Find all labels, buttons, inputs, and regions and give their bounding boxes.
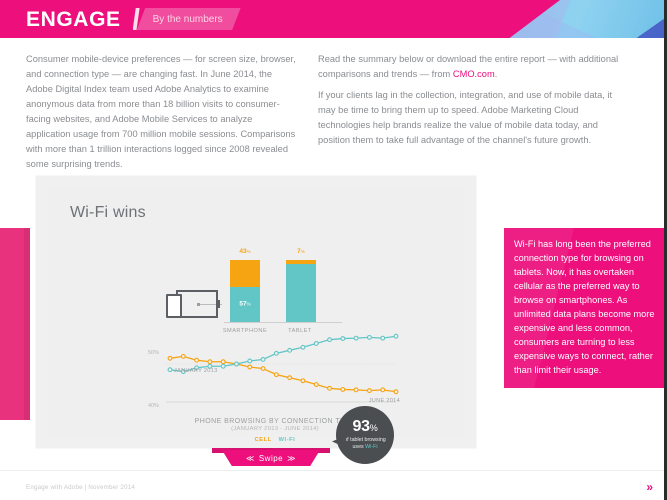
bar-segment-smartphone-cell [230, 260, 260, 287]
bar-group-tablet: 7% [286, 260, 316, 322]
left-pink-accent-bar [0, 228, 30, 420]
callout-percent-sign: % [370, 423, 378, 433]
phone-icon [166, 294, 182, 318]
intro-section: Consumer mobile-device preferences — for… [0, 52, 667, 178]
card-title: Wi-Fi wins [70, 204, 146, 222]
bar-label-smartphone-wifi-unit: % [247, 302, 251, 307]
devices-icon [164, 287, 220, 321]
intro-paragraph-left: Consumer mobile-device preferences — for… [26, 52, 296, 172]
cmo-link[interactable]: CMO.com [453, 69, 495, 79]
line-chart-annotation-start: JANUARY 2013 [174, 368, 218, 374]
header-content: ENGAGE By the numbers [0, 0, 223, 38]
intro-paragraph-right-2: If your clients lag in the collection, i… [318, 88, 622, 148]
bar-label-tablet-cell-unit: % [301, 249, 305, 254]
sidebar-callout-panel: Wi-Fi has long been the preferred connec… [504, 228, 667, 388]
slide-page: ENGAGE By the numbers Consumer mobile-de… [0, 0, 667, 500]
bar-stack-smartphone: 43% 57% [230, 260, 260, 322]
legend-item-cell: CELL [255, 437, 272, 443]
bar-stack-tablet: 7% [286, 260, 316, 322]
callout-subtext: of tablet browsing uses Wi-Fi [344, 437, 386, 451]
line-chart-ytick-40: 40% [148, 403, 159, 409]
swipe-chevron-left-icon[interactable]: ≪ [246, 454, 255, 463]
header-tag: By the numbers [135, 8, 223, 30]
callout-line-2: uses Wi-Fi [344, 444, 386, 451]
footer-label: Engage with Adobe | November 2014 [26, 484, 135, 491]
callout-line-2-highlight: Wi-Fi [365, 444, 377, 450]
bar-label-smartphone-cell-unit: % [247, 249, 251, 254]
brand-title: ENGAGE [26, 9, 121, 30]
swipe-chevron-right-icon[interactable]: ≫ [287, 454, 296, 463]
bar-label-smartphone-wifi: 57% [230, 301, 260, 308]
intro-right-post: . [495, 69, 498, 79]
bar-segment-smartphone-wifi: 57% [230, 287, 260, 322]
header-tag-label: By the numbers [135, 14, 223, 25]
bar-segment-tablet-wifi [286, 264, 316, 322]
intro-column-right: Read the summary below or download the e… [310, 52, 640, 178]
chart-card-inner: Wi-Fi wins 43% 57% [48, 188, 464, 436]
chart-card: Wi-Fi wins 43% 57% [36, 176, 476, 448]
bar-label-smartphone-cell: 43% [230, 248, 260, 255]
bar-label-smartphone-cell-value: 43 [239, 248, 246, 255]
page-header: ENGAGE By the numbers [0, 0, 667, 38]
callout-value: 93% [353, 419, 378, 435]
next-page-chevron-icon[interactable]: » [646, 480, 653, 494]
callout-bubble: 93% of tablet browsing uses Wi-Fi [336, 406, 394, 464]
bar-group-smartphone: 43% 57% [230, 260, 260, 322]
callout-number: 93 [353, 418, 370, 435]
intro-paragraph-right-1: Read the summary below or download the e… [318, 52, 622, 82]
line-chart-ytick-50: 50% [148, 350, 159, 356]
intro-column-left: Consumer mobile-device preferences — for… [0, 52, 310, 178]
swipe-button[interactable]: ≪ Swipe ≫ [222, 450, 320, 466]
sidebar-callout-text: Wi-Fi has long been the preferred connec… [504, 228, 667, 388]
callout-line-1: of tablet browsing [344, 437, 386, 444]
footer-divider [0, 470, 667, 471]
swipe-label: Swipe [259, 454, 283, 463]
bar-label-smartphone-wifi-value: 57 [239, 301, 246, 308]
line-chart-annotation-end: JUNE 2014 [369, 398, 400, 404]
device-nub-icon [216, 300, 220, 308]
bar-label-tablet-cell: 7% [286, 248, 316, 255]
callout-line-2-pre: uses [352, 444, 365, 450]
legend-item-wifi: WI-FI [279, 437, 296, 443]
